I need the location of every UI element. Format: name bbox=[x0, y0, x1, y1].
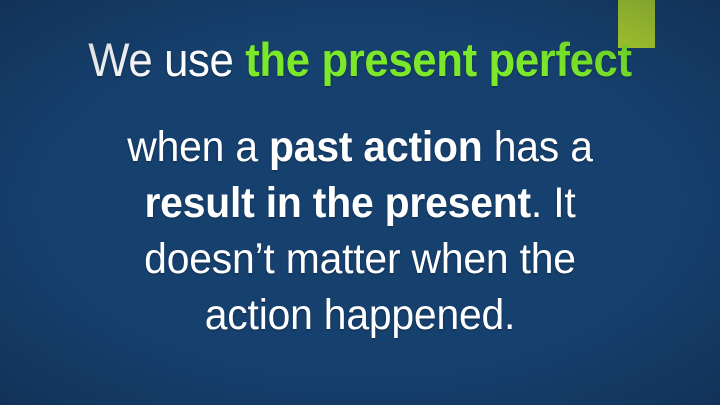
slide-content: We use the present perfect when a past a… bbox=[0, 0, 720, 405]
body-line-4-text: action happened. bbox=[205, 291, 515, 339]
slide-title: We use the present perfect bbox=[25, 36, 695, 84]
title-plain-text: We use bbox=[88, 33, 245, 86]
body-line-3: doesn’t matter when the bbox=[43, 232, 678, 288]
body-line-1-emphasis: past action bbox=[269, 123, 483, 171]
body-line-3-text: doesn’t matter when the bbox=[144, 235, 576, 283]
slide-body: when a past action has a result in the p… bbox=[18, 120, 702, 344]
body-line-1-part-a: when a bbox=[127, 123, 269, 171]
slide-canvas: We use the present perfect when a past a… bbox=[0, 0, 720, 405]
body-line-2: result in the present. It bbox=[43, 176, 678, 232]
title-highlight-text: the present perfect bbox=[245, 33, 631, 86]
body-line-2-emphasis: result in the present bbox=[144, 179, 530, 227]
body-line-1: when a past action has a bbox=[43, 120, 678, 176]
body-line-4: action happened. bbox=[43, 288, 678, 344]
body-line-1-part-c: has a bbox=[483, 123, 593, 171]
body-line-2-part-b: . It bbox=[531, 179, 576, 227]
